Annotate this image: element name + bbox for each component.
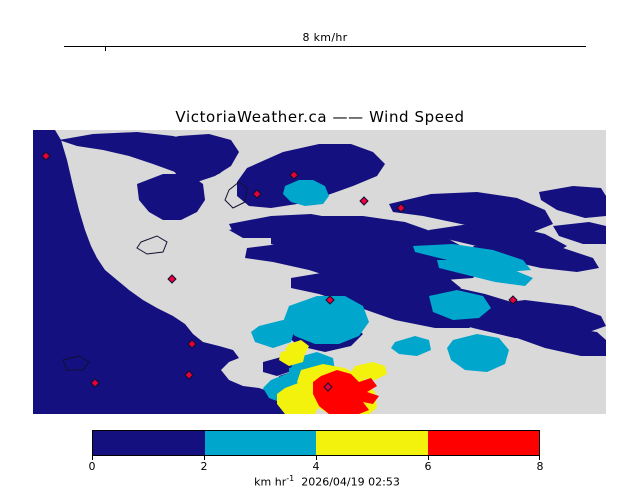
colorbar-segment-6-8 xyxy=(428,431,540,455)
colorbar-segment-0-2 xyxy=(93,431,205,455)
colorbar-track xyxy=(92,430,540,456)
map-canvas[interactable] xyxy=(33,130,606,414)
reference-scale: 8 km/hr xyxy=(64,46,586,48)
colorbar-units-and-timestamp: km hr-1 2026/04/19 02:53 xyxy=(0,461,640,502)
reference-scale-rule xyxy=(64,46,586,47)
reference-scale-tick xyxy=(105,47,106,51)
wind-speed-map-page: 8 km/hr VictoriaWeather.ca —— Wind Speed xyxy=(0,0,640,480)
reference-scale-label: 8 km/hr xyxy=(64,32,586,44)
colorbar-segment-2-4 xyxy=(205,431,317,455)
units-text: km hr xyxy=(254,476,286,489)
colorbar-segment-4-6 xyxy=(316,431,428,455)
colorbar: 02468 xyxy=(92,430,540,456)
timestamp: 2026/04/19 02:53 xyxy=(301,476,400,489)
wind-speed-field xyxy=(33,130,606,414)
page-title: VictoriaWeather.ca —— Wind Speed xyxy=(0,108,640,126)
